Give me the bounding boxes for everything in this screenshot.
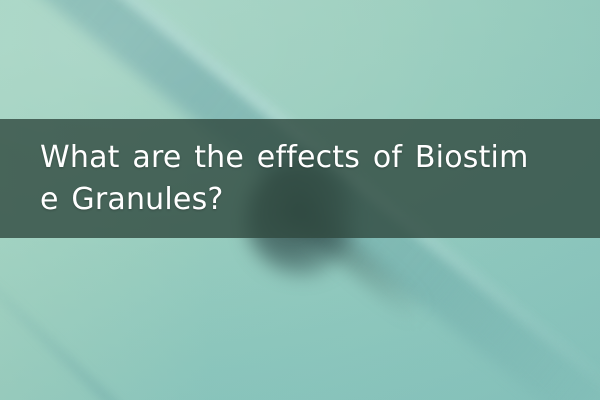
caption-question-text: What are the effects of Biostim e Granul… [40, 137, 574, 221]
question-card: What are the effects of Biostim e Granul… [0, 0, 600, 400]
caption-overlay-band: What are the effects of Biostim e Granul… [0, 119, 600, 238]
